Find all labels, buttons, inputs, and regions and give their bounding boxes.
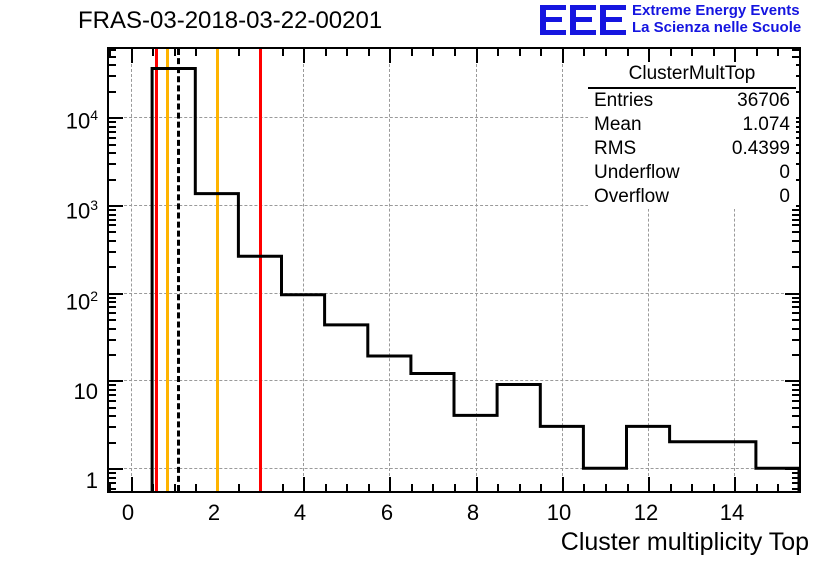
stats-key-mean: Mean	[594, 114, 642, 136]
xtick-label-8: 8	[443, 500, 503, 526]
eee-logo-text: Extreme Energy Events La Scienza nelle S…	[632, 3, 801, 36]
eee-logo: Extreme Energy Events La Scienza nelle S…	[540, 2, 832, 38]
stats-value-mean: 1.074	[742, 114, 790, 136]
eee-logo-mark	[540, 5, 626, 35]
stats-row-rms: RMS 0.4399	[588, 137, 796, 161]
ytick-label-1: 1	[28, 468, 98, 494]
xtick-label-14: 14	[702, 500, 762, 526]
stats-row-underflow: Underflow 0	[588, 161, 796, 185]
stats-key-overflow: Overflow	[594, 186, 669, 208]
eee-logo-line2: La Scienza nelle Scuole	[632, 20, 801, 37]
stats-value-rms: 0.4399	[732, 138, 790, 160]
stats-box: ClusterMultTop Entries 36706 Mean 1.074 …	[588, 62, 796, 209]
plot-frame: ClusterMultTop Entries 36706 Mean 1.074 …	[107, 47, 801, 493]
page-title: FRAS-03-2018-03-22-00201	[78, 7, 382, 35]
stats-value-overflow: 0	[779, 186, 790, 208]
stats-value-entries: 36706	[737, 90, 790, 112]
ytick-label-10: 10	[28, 379, 98, 405]
xtick-label-12: 12	[616, 500, 676, 526]
xtick-label-0: 0	[98, 500, 158, 526]
stats-value-underflow: 0	[779, 162, 790, 184]
stats-key-entries: Entries	[594, 90, 653, 112]
ytick-label-1e3: 103	[28, 197, 98, 224]
root-canvas: FRAS-03-2018-03-22-00201 Extreme Energy …	[0, 0, 836, 572]
stats-row-overflow: Overflow 0	[588, 185, 796, 209]
xtick-label-2: 2	[184, 500, 244, 526]
ytick-label-1e4: 104	[28, 107, 98, 134]
stats-key-underflow: Underflow	[594, 162, 680, 184]
xaxis-title: Cluster multiplicity Top	[561, 528, 809, 557]
stats-row-entries: Entries 36706	[588, 89, 796, 113]
stats-title: ClusterMultTop	[588, 62, 796, 89]
ytick-label-1e2: 102	[28, 288, 98, 315]
xtick-label-6: 6	[357, 500, 417, 526]
stats-row-mean: Mean 1.074	[588, 113, 796, 137]
stats-key-rms: RMS	[594, 138, 636, 160]
xtick-label-4: 4	[270, 500, 330, 526]
xtick-label-10: 10	[529, 500, 589, 526]
eee-logo-line1: Extreme Energy Events	[632, 3, 801, 20]
